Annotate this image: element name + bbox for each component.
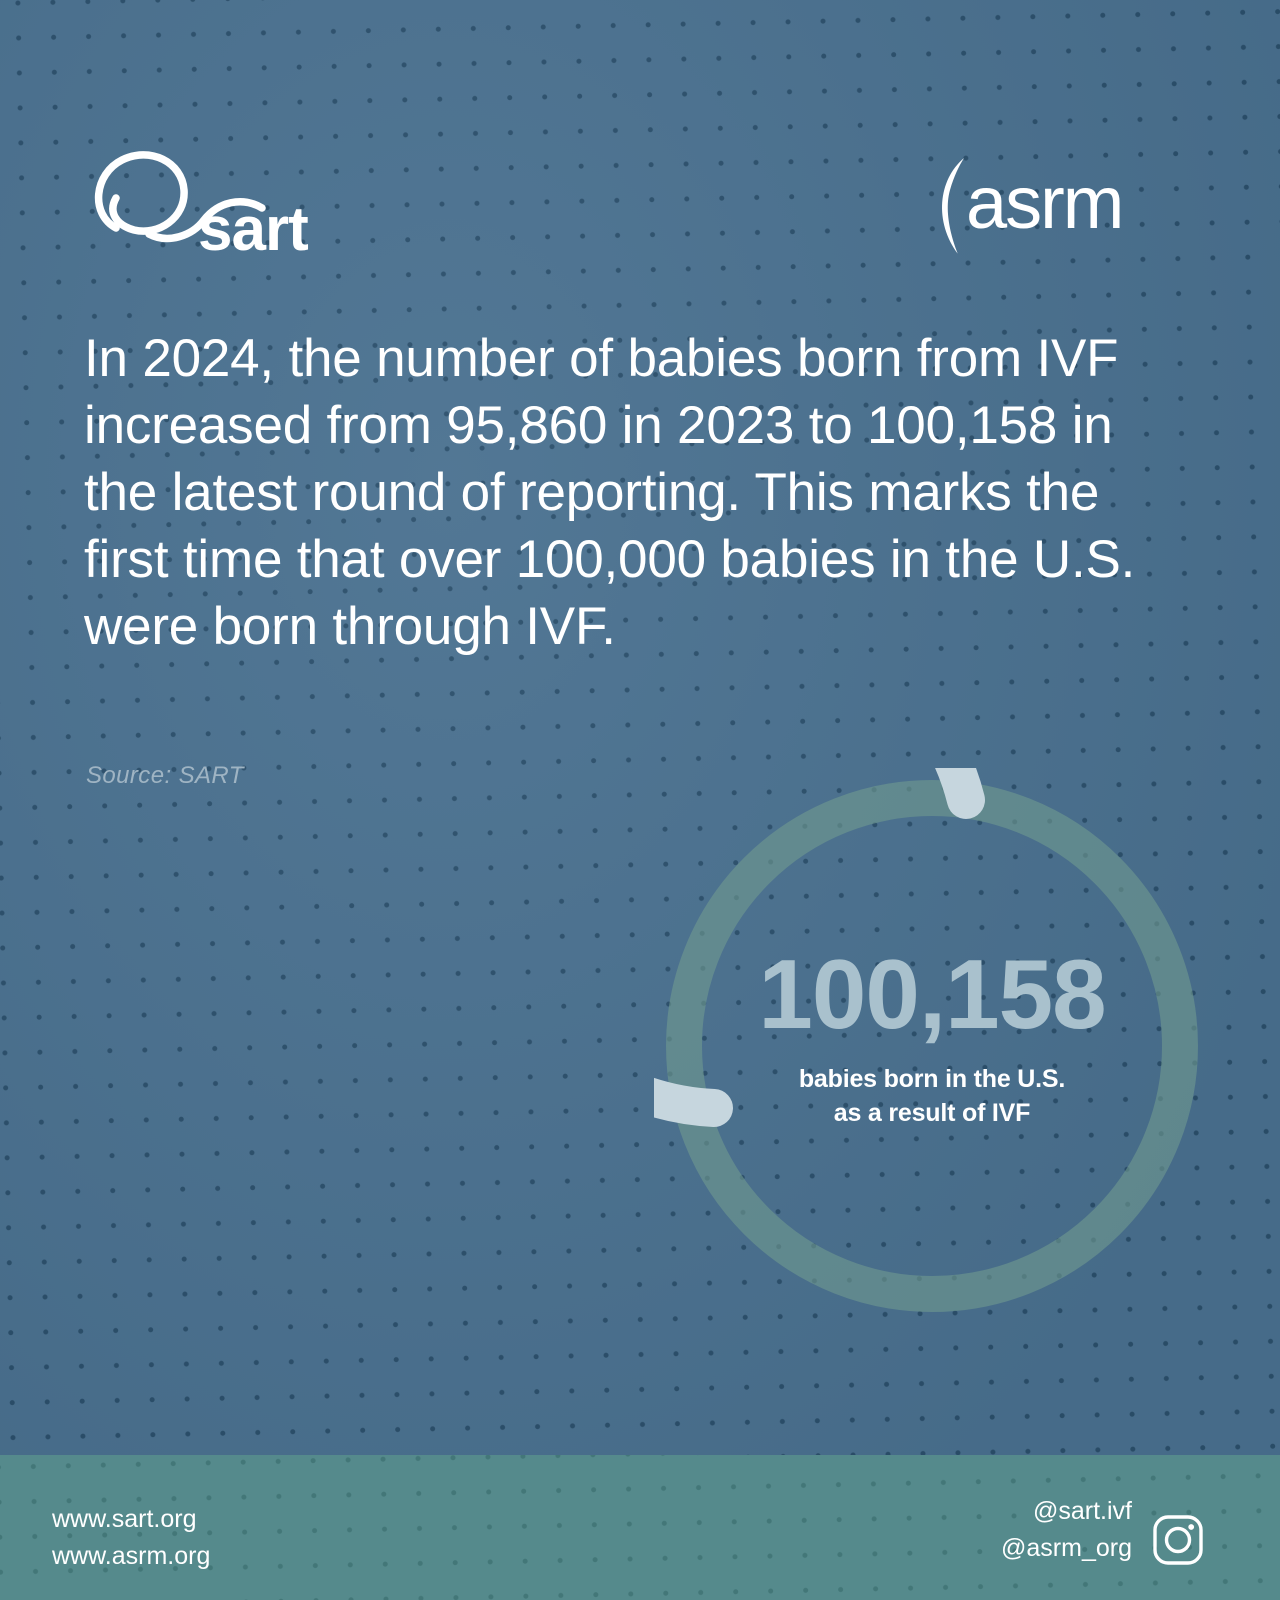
stat-caption: babies born in the U.S. as a result of I… [654, 1062, 1210, 1130]
asrm-wordmark: asrm [966, 161, 1122, 244]
sart-wordmark: sart [198, 195, 308, 260]
instagram-icon[interactable] [1151, 1513, 1205, 1567]
infographic-poster: sart asrm In 2024, the number of babies … [0, 0, 1280, 1600]
logo-row: sart asrm [0, 140, 1280, 270]
footer-websites[interactable]: www.sart.org www.asrm.org [52, 1501, 210, 1575]
headline-text: In 2024, the number of babies born from … [84, 325, 1154, 660]
asrm-logo: asrm [928, 156, 1128, 261]
source-attribution: Source: SART [86, 762, 244, 790]
footer-band: www.sart.org www.asrm.org @sart.ivf @asr… [0, 1455, 1280, 1600]
sart-logo: sart [86, 140, 336, 265]
asrm-petal-mark [942, 158, 964, 254]
stat-value: 100,158 [654, 945, 1210, 1043]
footer-social-handles[interactable]: @sart.ivf @asrm_org [1001, 1493, 1132, 1567]
